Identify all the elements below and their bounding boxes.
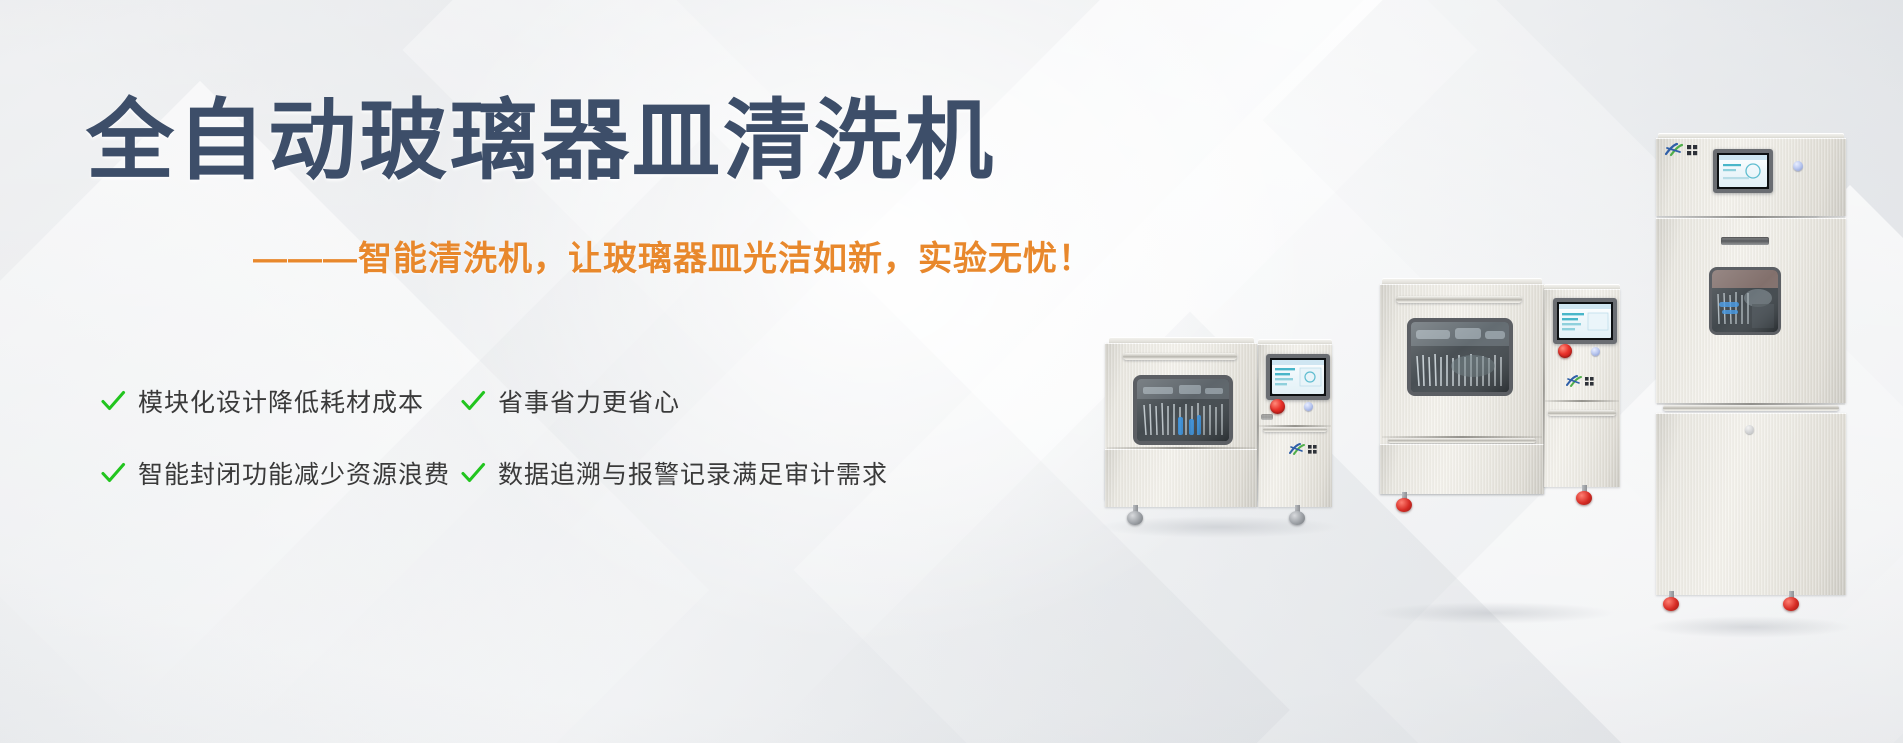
hmi-screen-content — [1559, 304, 1611, 338]
chamber-viewing-window — [1133, 375, 1233, 445]
lower-cabinet-panel — [1656, 413, 1846, 595]
brand-logo-mark — [1566, 374, 1596, 388]
caster-wheel — [1289, 505, 1305, 525]
caster-roller — [1289, 511, 1305, 525]
panel-seam-vertical — [1257, 345, 1259, 507]
caster-roller — [1576, 491, 1592, 505]
lower-access-panel — [1105, 449, 1257, 507]
product-banner: 全自动玻璃器皿清洗机 ———智能清洗机，让玻璃器皿光洁如新，实验无忧！ 模块化设… — [0, 0, 1903, 743]
product-shadow — [1372, 602, 1616, 624]
hmi-touchscreen[interactable] — [1553, 298, 1617, 344]
chamber-handle-slot — [1721, 237, 1769, 245]
glassware-load — [1137, 379, 1229, 441]
hmi-touchscreen[interactable] — [1713, 149, 1773, 193]
tall-cabinet-washer-assembly — [1655, 133, 1847, 613]
chamber-viewing-window — [1407, 318, 1513, 396]
emergency-stop-button[interactable] — [1558, 344, 1572, 358]
lower-door-handle — [1663, 405, 1839, 411]
chamber-viewing-window — [1709, 267, 1781, 335]
caster-wheel — [1127, 505, 1143, 525]
caster-wheel — [1576, 485, 1592, 505]
caster-roller — [1127, 511, 1143, 525]
brand-logo — [1665, 142, 1701, 157]
product-shadow — [1647, 616, 1853, 638]
brushed-texture — [1105, 449, 1257, 507]
glassware-load — [1411, 322, 1509, 392]
glassware-load — [1712, 270, 1778, 332]
power-indicator-button[interactable] — [1793, 161, 1803, 171]
emergency-stop-button[interactable] — [1270, 399, 1285, 414]
caster-roller — [1663, 597, 1679, 611]
lower-compartment-handle — [1548, 410, 1616, 416]
hmi-screen-content — [1272, 360, 1324, 394]
power-indicator-button[interactable] — [1591, 347, 1600, 356]
brand-logo-mark — [1665, 142, 1701, 157]
lower-access-panel — [1380, 444, 1544, 494]
hmi-touchscreen[interactable] — [1266, 354, 1330, 400]
caster-wheel — [1663, 591, 1679, 611]
label-plate — [1261, 414, 1273, 420]
brushed-texture — [1380, 444, 1544, 494]
panel-seam-vertical — [1543, 288, 1545, 488]
caster-wheel — [1396, 492, 1412, 512]
caster-roller — [1396, 498, 1412, 512]
caster-wheel — [1783, 591, 1799, 611]
brand-logo — [1566, 374, 1596, 388]
door-handle — [1123, 353, 1237, 360]
product-gallery — [0, 0, 1903, 743]
panel-seam — [1545, 400, 1619, 402]
lower-door-handle — [1388, 438, 1536, 443]
brand-logo — [1289, 442, 1319, 456]
caster-roller — [1783, 597, 1799, 611]
product-image-tall-cabinet-glassware-washer — [1655, 598, 1845, 718]
door-handle — [1396, 296, 1522, 303]
cabinet-latch[interactable] — [1745, 425, 1754, 434]
brushed-texture — [1656, 413, 1846, 595]
brand-logo-mark — [1289, 442, 1319, 456]
lower-door-handle — [1263, 427, 1327, 432]
hmi-screen-content — [1719, 155, 1767, 187]
product-image-upright-glassware-washer — [1378, 490, 1608, 620]
benchtop-washer-assembly — [1103, 337, 1335, 512]
power-indicator-button[interactable] — [1304, 402, 1313, 411]
upright-washer-assembly — [1378, 278, 1622, 500]
